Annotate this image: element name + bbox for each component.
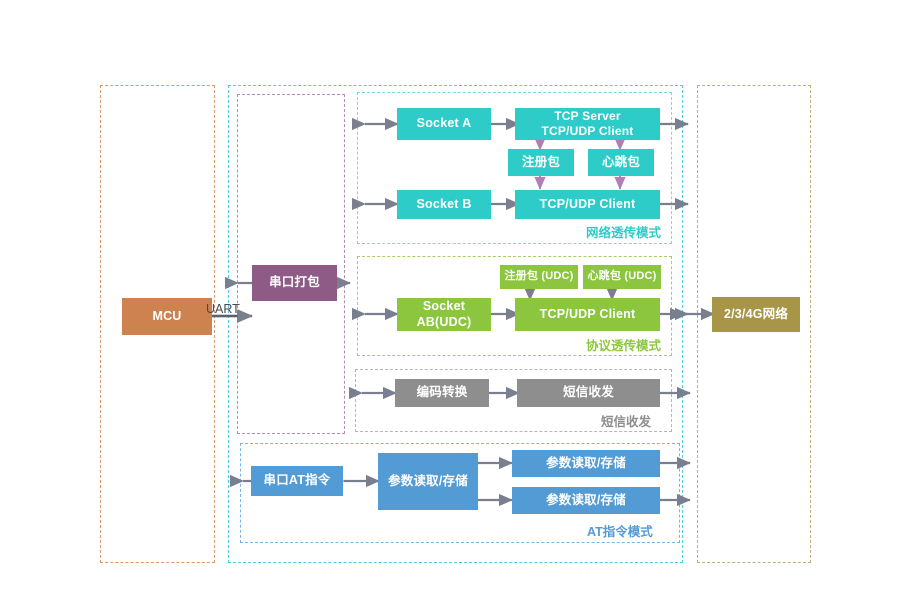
block-param-rw-bottom[interactable]: 参数读取/存储 xyxy=(512,487,660,514)
block-uart-packet[interactable]: 串口打包 xyxy=(252,265,337,301)
block-tcp-udp-client-protocol[interactable]: TCP/UDP Client xyxy=(515,298,660,331)
block-register-packet[interactable]: 注册包 xyxy=(508,149,574,176)
block-encoding-convert[interactable]: 编码转换 xyxy=(395,379,489,407)
block-tcp-server-client[interactable]: TCP Server TCP/UDP Client xyxy=(515,108,660,140)
block-uart-at-command[interactable]: 串口AT指令 xyxy=(251,466,343,496)
block-socket-a[interactable]: Socket A xyxy=(397,108,491,140)
block-param-rw-top[interactable]: 参数读取/存储 xyxy=(512,450,660,477)
block-socket-ab-udc[interactable]: Socket AB(UDC) xyxy=(397,298,491,331)
block-register-packet-udc[interactable]: 注册包 (UDC) xyxy=(500,265,578,289)
caption-protocol-mode: 协议透传模式 xyxy=(586,335,661,354)
diagram-canvas: MCU UART 串口打包 2/3/4G网络 Socket A TCP Serv… xyxy=(0,0,900,596)
block-network[interactable]: 2/3/4G网络 xyxy=(712,297,800,332)
block-sms-send-recv[interactable]: 短信收发 xyxy=(517,379,660,407)
block-mcu[interactable]: MCU xyxy=(122,298,212,335)
block-heartbeat-packet-udc[interactable]: 心跳包 (UDC) xyxy=(583,265,661,289)
block-param-rw-main[interactable]: 参数读取/存储 xyxy=(378,453,478,510)
block-socket-b[interactable]: Socket B xyxy=(397,190,491,219)
caption-network-mode: 网络透传模式 xyxy=(586,222,661,241)
uart-packet-group xyxy=(237,94,345,434)
caption-sms-mode: 短信收发 xyxy=(601,411,651,430)
block-heartbeat-packet[interactable]: 心跳包 xyxy=(588,149,654,176)
block-tcp-udp-client[interactable]: TCP/UDP Client xyxy=(515,190,660,219)
uart-label: UART xyxy=(206,302,240,316)
caption-at-mode: AT指令模式 xyxy=(587,521,653,540)
